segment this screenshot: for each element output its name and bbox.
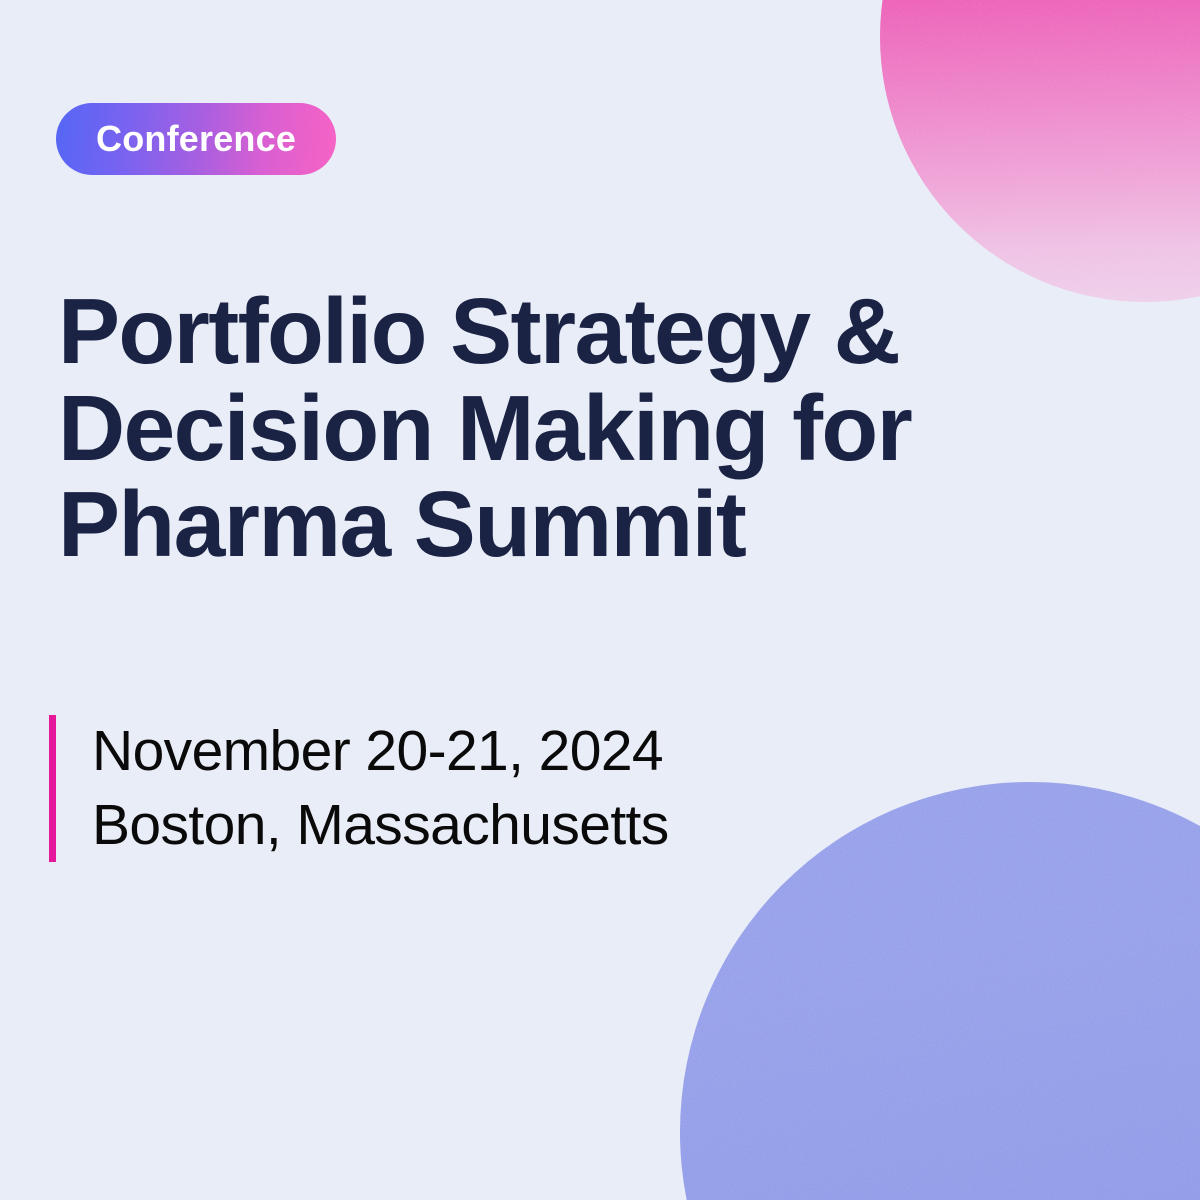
periwinkle-gradient-circle-decoration	[680, 782, 1200, 1200]
event-category-badge-label: Conference	[96, 121, 296, 157]
pink-gradient-circle-decoration	[880, 0, 1200, 302]
event-title-line-2: Decision Making for	[58, 380, 1018, 477]
event-details-text: November 20-21, 2024 Boston, Massachuset…	[92, 715, 669, 862]
event-location: Boston, Massachusetts	[92, 789, 669, 863]
pink-circle-fill	[880, 0, 1200, 302]
event-date: November 20-21, 2024	[92, 715, 669, 789]
event-promo-card: Conference Portfolio Strategy & Decision…	[0, 0, 1200, 1200]
blue-circle-grain-texture	[680, 782, 1200, 1200]
event-title: Portfolio Strategy & Decision Making for…	[58, 283, 1018, 573]
event-title-line-1: Portfolio Strategy &	[58, 283, 1018, 380]
event-title-line-3: Pharma Summit	[58, 476, 1018, 573]
blue-circle-fill	[680, 782, 1200, 1200]
pink-circle-grain-texture	[880, 0, 1200, 302]
accent-bar	[49, 715, 56, 862]
event-category-badge[interactable]: Conference	[56, 103, 336, 175]
event-details: November 20-21, 2024 Boston, Massachuset…	[49, 715, 669, 862]
